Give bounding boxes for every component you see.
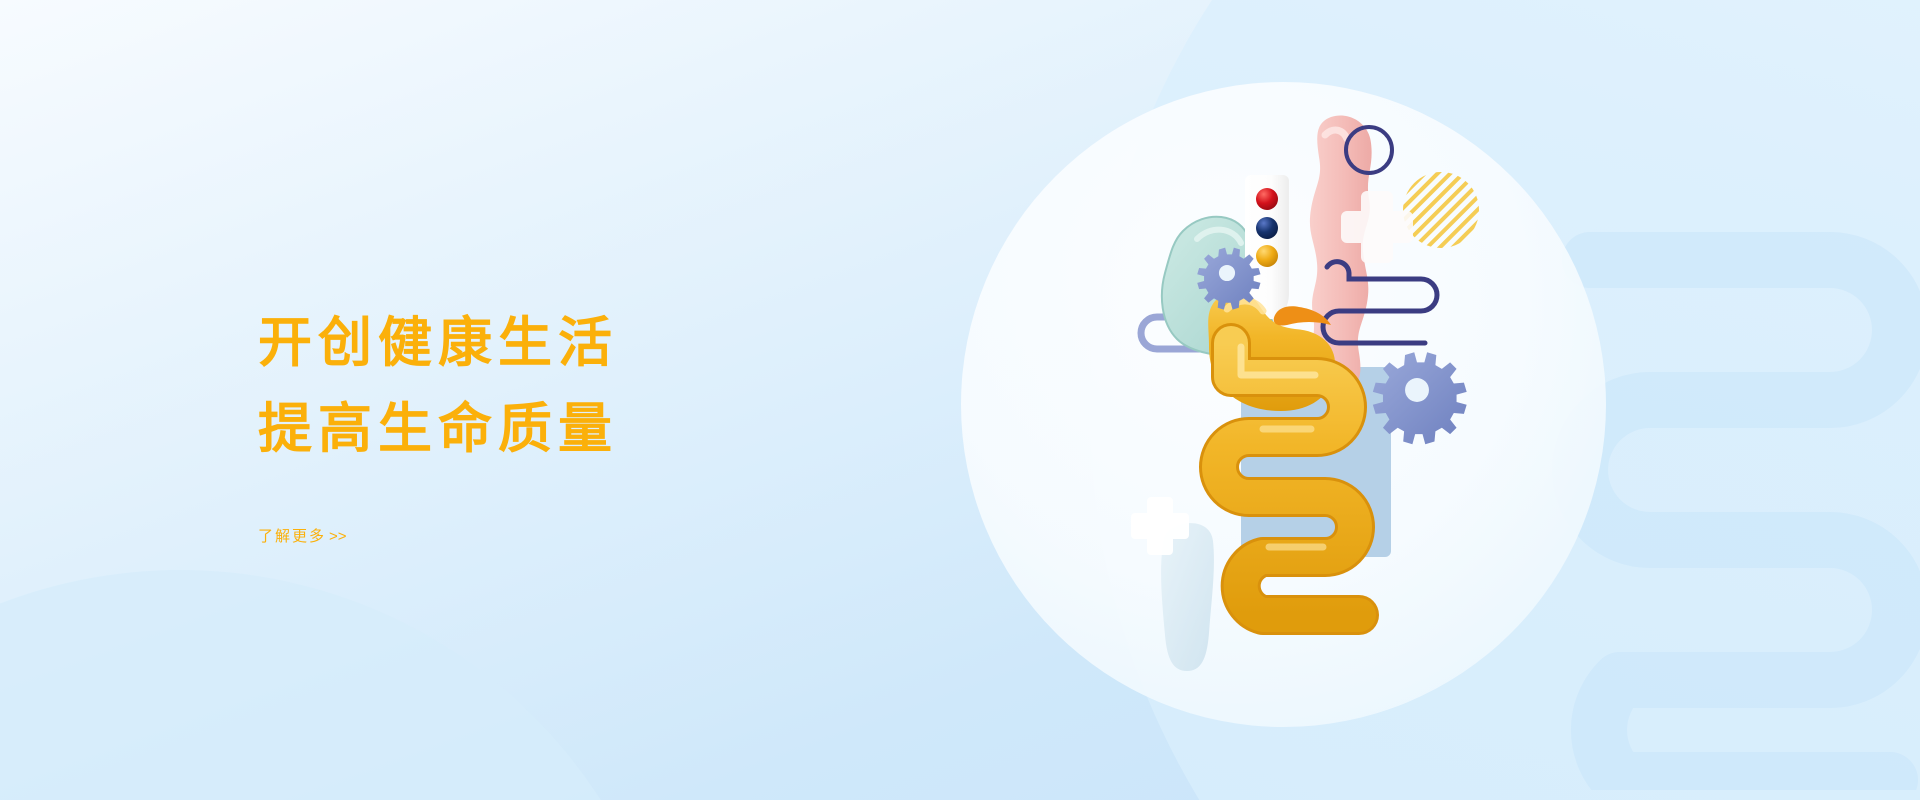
- striped-circle: [1403, 172, 1479, 248]
- digestive-system-illustration: [1055, 95, 1525, 715]
- gear-small-icon: [1197, 248, 1260, 310]
- learn-more-link[interactable]: 了解更多>>: [258, 525, 347, 546]
- gear-large-icon: [1373, 352, 1467, 444]
- headline-line-2: 提高生命质量: [258, 386, 898, 472]
- intestine: [1219, 343, 1359, 615]
- chevron-right-icon: >>: [329, 528, 347, 545]
- test-tube-dot-yellow: [1256, 245, 1278, 267]
- hero-copy: 开创健康生活 提高生命质量 了解更多>>: [258, 300, 898, 546]
- learn-more-label: 了解更多: [258, 528, 326, 545]
- hero-banner: 开创健康生活 提高生命质量 了解更多>>: [0, 0, 1920, 800]
- background-blob-bottom-left: [0, 570, 680, 800]
- test-tube-dot-navy: [1256, 217, 1278, 239]
- test-tube-dot-red: [1256, 188, 1278, 210]
- headline-line-1: 开创健康生活: [258, 300, 898, 386]
- page-title: 开创健康生活 提高生命质量: [258, 300, 898, 473]
